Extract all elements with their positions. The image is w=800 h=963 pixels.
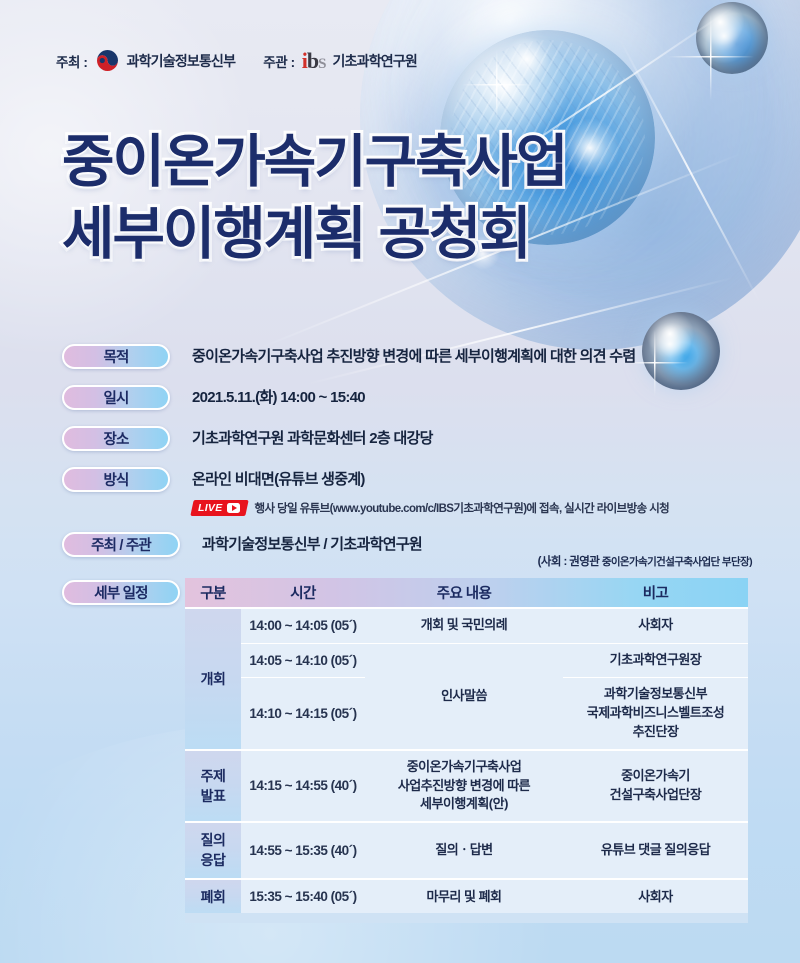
schedule-table-head: 구분 시간 주요 내용 비고 <box>185 578 748 608</box>
schedule-table-body: 개회 14:00 ~ 14:05 (05´) 개회 및 국민의례 사회자 14:… <box>185 608 748 914</box>
organizer-bar: 주최 : 과학기술정보통신부 주관 : ibS 기초과학연구원 <box>56 48 417 73</box>
column-header-category: 구분 <box>185 578 241 608</box>
star-flare-2 <box>462 50 532 120</box>
ibs-logo-icon: ibS <box>302 50 326 72</box>
cell-time-5: 14:55 ~ 15:35 (40´) <box>241 822 365 879</box>
organizer-name: 기초과학연구원 <box>332 51 417 71</box>
table-row: 주제발표 14:15 ~ 14:55 (40´) 중이온가속기구축사업사업추진방… <box>185 750 748 823</box>
cell-time-6: 15:35 ~ 15:40 (05´) <box>241 879 365 914</box>
table-row: 폐회 15:35 ~ 15:40 (05´) 마무리 및 폐회 사회자 <box>185 879 748 914</box>
cell-time-4: 14:15 ~ 14:55 (40´) <box>241 750 365 823</box>
info-value-datetime: 2021.5.11.(화) 14:00 ~ 15:40 <box>192 385 365 409</box>
moderator-note: (사회 : 권영관 중이온가속기건설구축사업단 부단장) <box>538 553 752 569</box>
cell-time-3: 14:10 ~ 14:15 (05´) <box>241 678 365 750</box>
poster-title: 중이온가속기구축사업 세부이행계획 공청회 <box>62 131 566 267</box>
moderator-title: 중이온가속기건설구축사업단 부단장) <box>602 556 752 568</box>
live-badge[interactable]: LIVE <box>190 500 248 516</box>
info-row-venue: 장소 기초과학연구원 과학문화센터 2층 대강당 <box>62 426 752 451</box>
table-row: 질의응답 14:55 ~ 15:35 (40´) 질의ㆍ답변 유튜브 댓글 질의… <box>185 822 748 879</box>
live-badge-label: LIVE <box>198 502 223 514</box>
moderator-prefix: (사회 : 권영관 <box>538 556 602 568</box>
schedule-header-row: 구분 시간 주요 내용 비고 <box>185 578 748 608</box>
cell-note-4: 중이온가속기건설구축사업단장 <box>563 750 748 823</box>
ibs-logo-b: b <box>307 50 318 72</box>
cell-time-1: 14:00 ~ 14:05 (05´) <box>241 608 365 643</box>
cell-category-opening: 개회 <box>185 608 241 750</box>
schedule-label: 세부 일정 <box>62 580 180 605</box>
cell-note-5: 유튜브 댓글 질의응답 <box>563 822 748 879</box>
cell-category-qa: 질의응답 <box>185 822 241 879</box>
cell-note-1: 사회자 <box>563 608 748 643</box>
cell-content-1: 개회 및 국민의례 <box>365 608 563 643</box>
info-value-venue: 기초과학연구원 과학문화센터 2층 대강당 <box>192 426 433 450</box>
sparkle-1 <box>696 8 752 64</box>
host-name: 과학기술정보통신부 <box>127 51 236 71</box>
sparkle-2 <box>504 36 550 82</box>
info-value-hosts: 과학기술정보통신부 / 기초과학연구원 <box>202 532 422 556</box>
table-row: 개회 14:00 ~ 14:05 (05´) 개회 및 국민의례 사회자 <box>185 608 748 643</box>
info-value-purpose: 중이온가속기구축사업 추진방향 변경에 따른 세부이행계획에 대한 의견 수렴 <box>192 344 635 368</box>
info-label-purpose: 목적 <box>62 344 170 369</box>
ibs-logo-s: S <box>318 57 325 72</box>
info-label-hosts: 주최 / 주관 <box>62 532 180 557</box>
sparkle-3 <box>560 118 620 178</box>
cell-content-greeting: 인사말씀 <box>365 643 563 750</box>
cell-note-6: 사회자 <box>563 879 748 914</box>
cell-content-5: 질의ㆍ답변 <box>365 822 563 879</box>
schedule-table: 구분 시간 주요 내용 비고 개회 14:00 ~ 14:05 (05´) 개회… <box>185 578 748 914</box>
star-flare-1 <box>668 14 754 100</box>
cell-note-3: 과학기술정보통신부국제과학비즈니스벨트조성추진단장 <box>563 678 748 750</box>
cell-time-2: 14:05 ~ 14:10 (05´) <box>241 643 365 678</box>
live-stream-note-row: LIVE 행사 당일 유튜브(www.youtube.com/c/IBS기초과학… <box>192 500 669 516</box>
cell-category-presentation: 주제발표 <box>185 750 241 823</box>
info-section: 목적 중이온가속기구축사업 추진방향 변경에 따른 세부이행계획에 대한 의견 … <box>62 344 752 573</box>
info-value-format: 온라인 비대면(유튜브 생중계) <box>192 467 669 491</box>
column-header-content: 주요 내용 <box>365 578 563 608</box>
cell-content-6: 마무리 및 폐회 <box>365 879 563 914</box>
table-row: 14:05 ~ 14:10 (05´) 인사말씀 기초과학연구원장 <box>185 643 748 678</box>
cell-content-4: 중이온가속기구축사업사업추진방향 변경에 따른세부이행계획(안) <box>365 750 563 823</box>
live-stream-note: 행사 당일 유튜브(www.youtube.com/c/IBS기초과학연구원)에… <box>255 500 670 516</box>
light-beam-4 <box>619 38 761 304</box>
korea-government-taegeuk-icon <box>95 48 120 73</box>
info-label-format: 방식 <box>62 467 170 492</box>
column-header-time: 시간 <box>241 578 365 608</box>
organizer-label: 주관 : <box>263 51 295 71</box>
play-icon <box>227 503 240 513</box>
column-header-note: 비고 <box>563 578 748 608</box>
info-row-purpose: 목적 중이온가속기구축사업 추진방향 변경에 따른 세부이행계획에 대한 의견 … <box>62 344 752 369</box>
host-label: 주최 : <box>56 51 88 71</box>
info-label-datetime: 일시 <box>62 385 170 410</box>
poster-root: 주최 : 과학기술정보통신부 주관 : ibS 기초과학연구원 중이온가속기구축… <box>0 0 800 963</box>
info-format-block: 온라인 비대면(유튜브 생중계) LIVE 행사 당일 유튜브(www.yout… <box>192 467 669 516</box>
small-sphere-top-right <box>696 2 768 74</box>
info-row-format: 방식 온라인 비대면(유튜브 생중계) LIVE 행사 당일 유튜브(www.y… <box>62 467 752 516</box>
cell-category-closing: 폐회 <box>185 879 241 914</box>
title-line-2: 세부이행계획 공청회 <box>62 203 566 267</box>
info-label-venue: 장소 <box>62 426 170 451</box>
title-line-1: 중이온가속기구축사업 <box>62 131 566 195</box>
schedule-label-wrap: 세부 일정 <box>62 580 180 605</box>
cell-note-2: 기초과학연구원장 <box>563 643 748 678</box>
info-row-datetime: 일시 2021.5.11.(화) 14:00 ~ 15:40 <box>62 385 752 410</box>
schedule-table-footer-strip <box>185 913 748 923</box>
